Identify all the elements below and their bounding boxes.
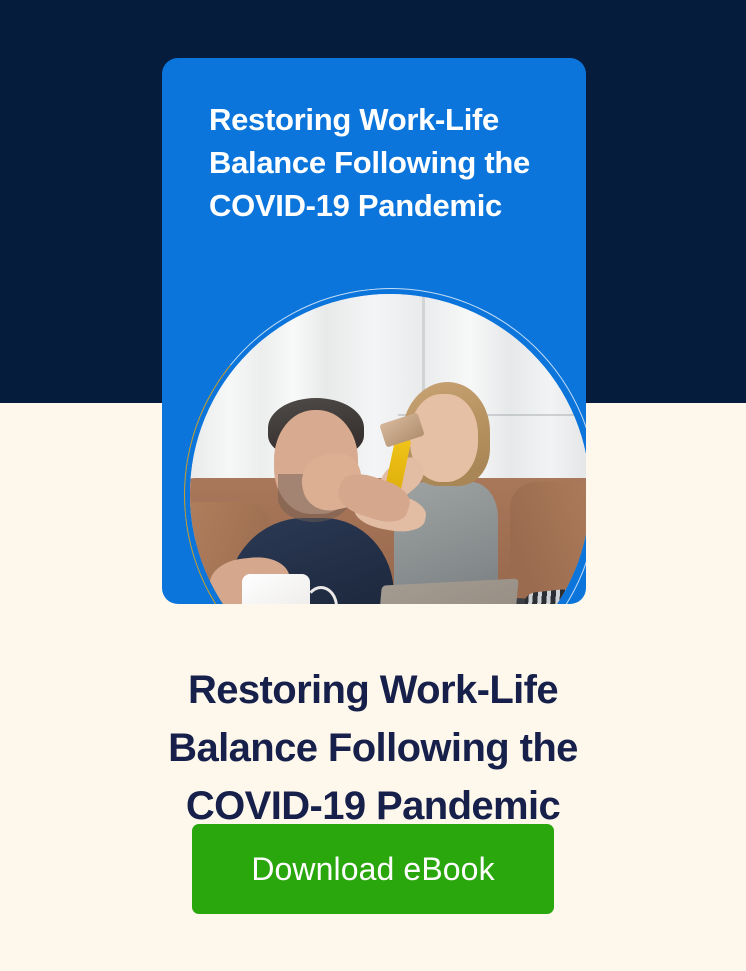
page-title: Restoring Work-Life Balance Following th…: [123, 661, 623, 835]
photo-coffee-mug: [242, 574, 310, 604]
ebook-cover-card[interactable]: Restoring Work-Life Balance Following th…: [162, 58, 586, 604]
photo-scene: [190, 294, 586, 604]
photo-couch-arm-right: [510, 482, 586, 604]
ebook-cover-photo: [190, 294, 586, 604]
ebook-cover-title: Restoring Work-Life Balance Following th…: [209, 98, 554, 227]
ebook-promo-page: Restoring Work-Life Balance Following th…: [0, 0, 746, 971]
download-ebook-button[interactable]: Download eBook: [192, 824, 554, 914]
